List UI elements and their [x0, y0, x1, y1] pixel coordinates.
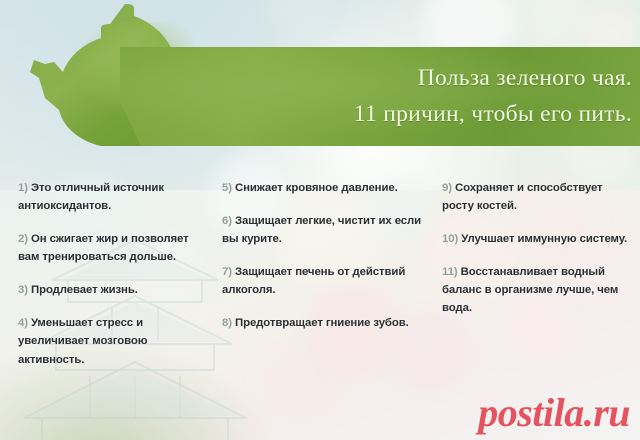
title-block: Польза зеленого чая. 11 причин, чтобы ег…	[120, 47, 632, 146]
benefit-text: Восстанавливает водный баланс в организм…	[442, 266, 618, 314]
title-banner: Польза зеленого чая. 11 причин, чтобы ег…	[120, 47, 640, 146]
benefit-item: 6) Защищает легкие, чистит их если вы ку…	[222, 212, 428, 248]
benefit-item: 7) Защищает печень от действий алкоголя.	[222, 263, 428, 299]
title-line-1: Польза зеленого чая.	[418, 67, 632, 91]
benefit-number: 2)	[18, 233, 28, 245]
benefit-text: Это отличный источник антиоксидантов.	[18, 182, 164, 212]
benefit-number: 7)	[222, 266, 232, 278]
benefit-item: 4) Уменьшает стресс и увеличивает мозгов…	[18, 314, 210, 368]
benefit-number: 4)	[18, 317, 28, 329]
benefit-item: 8) Предотвращает гниение зубов.	[222, 314, 428, 332]
benefit-item: 10) Улучшает иммунную систему.	[442, 230, 632, 248]
title-line-2: 11 причин, чтобы его пить.	[354, 103, 632, 127]
benefit-number: 3)	[18, 284, 28, 296]
benefit-text: Улучшает иммунную систему.	[458, 233, 627, 245]
benefit-item: 2) Он сжигает жир и позволяет вам тренир…	[18, 230, 210, 266]
benefit-number: 8)	[222, 317, 232, 329]
infographic-poster: Польза зеленого чая. 11 причин, чтобы ег…	[0, 0, 640, 440]
benefit-number: 5)	[222, 182, 232, 194]
benefit-number: 10)	[442, 233, 458, 245]
benefit-item: 3) Продлевает жизнь.	[18, 281, 210, 299]
benefit-text: Защищает легкие, чистит их если вы курит…	[222, 215, 421, 245]
benefit-text: Защищает печень от действий алкоголя.	[222, 266, 405, 296]
benefit-item: 11) Восстанавливает водный баланс в орга…	[442, 263, 632, 317]
benefit-item: 5) Снижает кровяное давление.	[222, 179, 428, 197]
benefit-number: 6)	[222, 215, 232, 227]
benefits-column-1: 1) Это отличный источник антиоксидантов.…	[0, 168, 218, 440]
benefit-number: 11)	[442, 266, 458, 278]
benefit-item: 1) Это отличный источник антиоксидантов.	[18, 179, 210, 215]
benefit-text: Уменьшает стресс и увеличивает мозговою …	[18, 317, 147, 365]
benefit-text: Снижает кровяное давление.	[232, 182, 398, 194]
benefit-text: Сохраняет и способствует росту костей.	[442, 182, 603, 212]
benefit-text: Продлевает жизнь.	[28, 284, 138, 296]
benefit-item: 9) Сохраняет и способствует росту костей…	[442, 179, 632, 215]
benefits-column-2: 5) Снижает кровяное давление.6) Защищает…	[218, 168, 436, 440]
postila-watermark: postila.ru	[478, 389, 630, 436]
benefit-text: Он сжигает жир и позволяет вам тренирова…	[18, 233, 189, 263]
benefit-number: 1)	[18, 182, 28, 194]
benefit-text: Предотвращает гниение зубов.	[232, 317, 409, 329]
benefit-number: 9)	[442, 182, 452, 194]
